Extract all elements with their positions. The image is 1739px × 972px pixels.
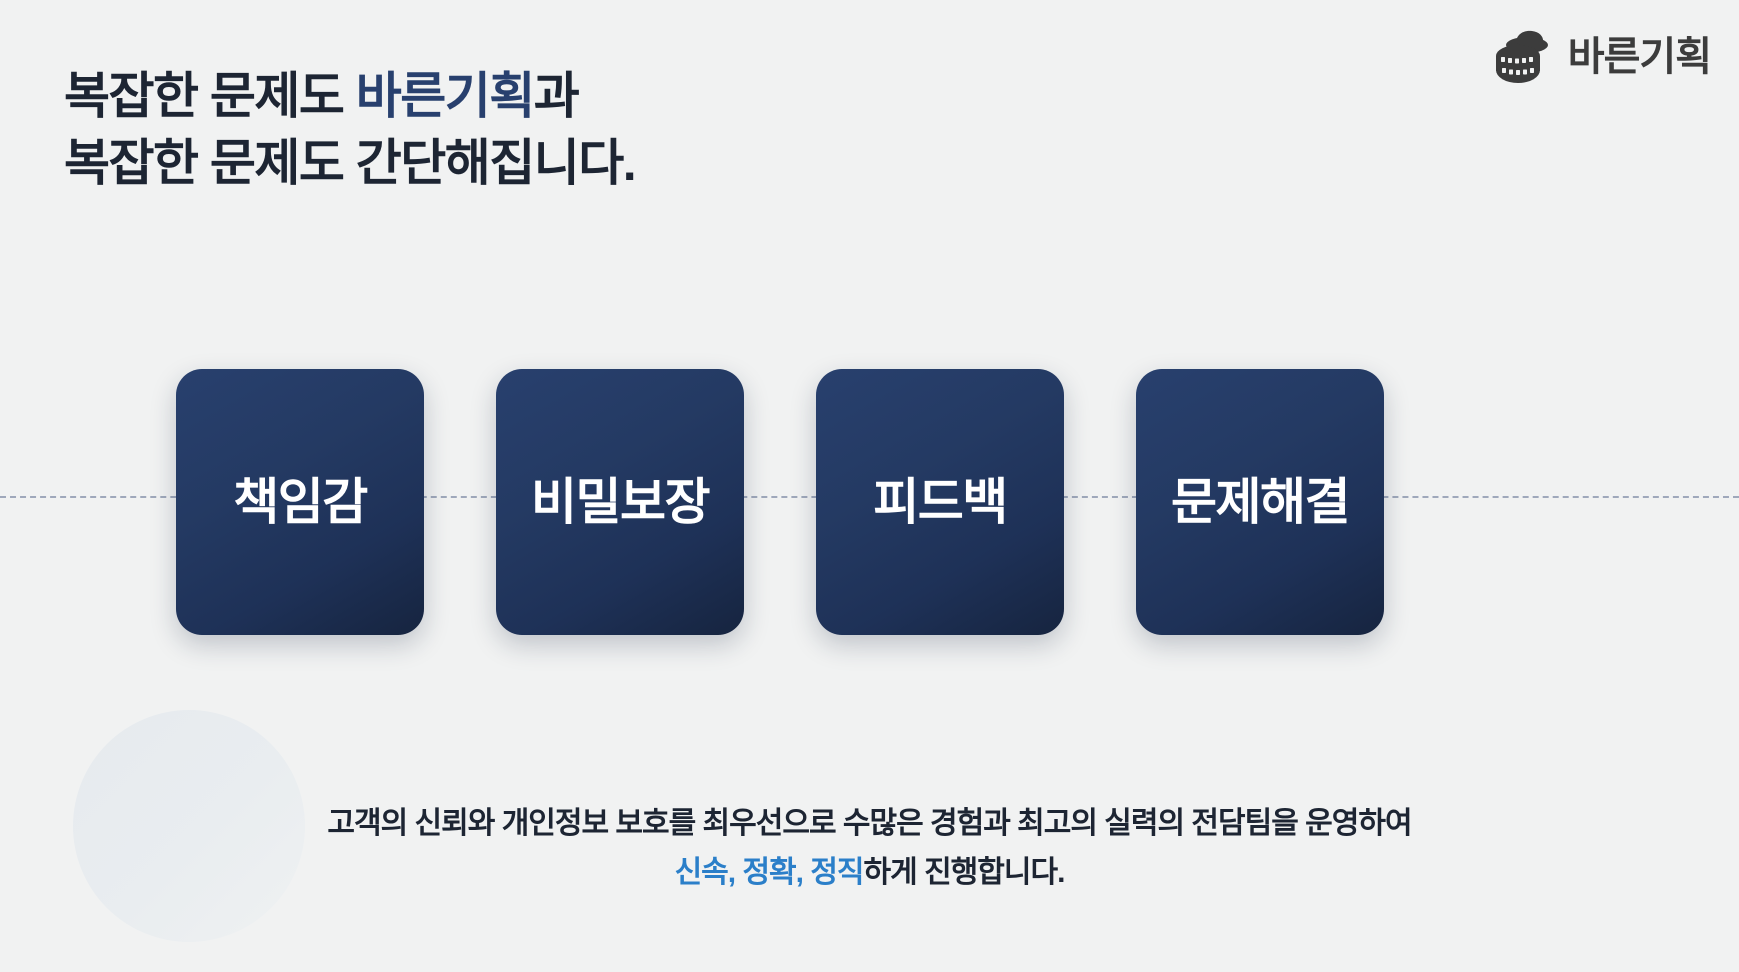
caption-block: 고객의 신뢰와 개인정보 보호를 최우선으로 수많은 경험과 최고의 실력의 전… [0,800,1739,897]
value-card-label: 피드백 [873,477,1007,527]
brand-logo[interactable]: 바른기획 [1492,28,1711,86]
value-card-row: 책임감 비밀보장 피드백 문제해결 [176,369,1568,635]
value-card-confidentiality[interactable]: 비밀보장 [496,369,744,635]
value-card-label: 비밀보장 [531,477,709,527]
headline-accent: 바른기획 [356,68,534,124]
headline-line-2: 복잡한 문제도 간단해집니다. [64,130,635,197]
headline-suffix: 과 [534,68,579,124]
caption-line-1: 고객의 신뢰와 개인정보 보호를 최우선으로 수많은 경험과 최고의 실력의 전… [0,800,1739,849]
caption-line-2: 신속, 정확, 정직하게 진행합니다. [0,849,1739,898]
caption-accent: 신속, 정확, 정직 [675,856,864,889]
headline-line-1: 복잡한 문제도 바른기획과 [64,63,635,130]
value-card-label: 문제해결 [1171,477,1349,527]
brand-logo-text: 바른기획 [1568,37,1711,77]
value-card-label: 책임감 [233,477,367,527]
slide-canvas: 바른기획 복잡한 문제도 바른기획과 복잡한 문제도 간단해집니다. 책임감 비… [0,0,1739,972]
film-reel-hat-icon [1492,28,1554,86]
value-card-problem-solving[interactable]: 문제해결 [1136,369,1384,635]
value-card-responsibility[interactable]: 책임감 [176,369,424,635]
page-title: 복잡한 문제도 바른기획과 복잡한 문제도 간단해집니다. [64,63,635,197]
caption-suffix: 하게 진행합니다. [864,856,1065,889]
value-card-feedback[interactable]: 피드백 [816,369,1064,635]
headline-prefix: 복잡한 문제도 [64,68,356,124]
